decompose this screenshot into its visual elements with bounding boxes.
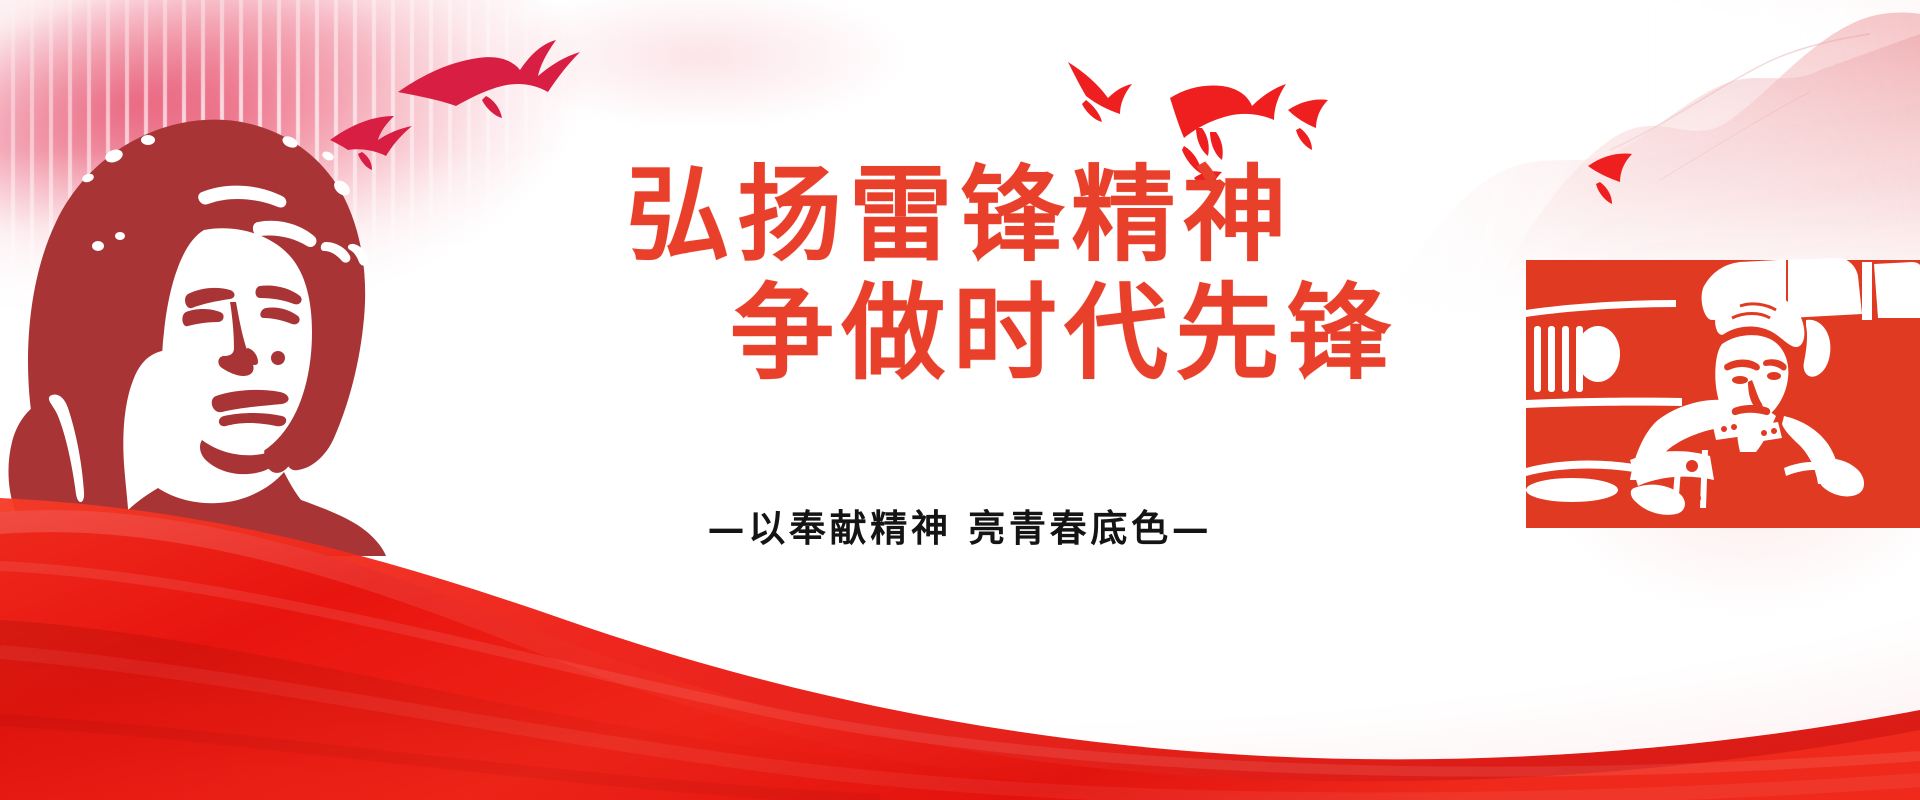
headline-line-2: 争做时代先锋 [0,281,1920,385]
red-silk-ribbon-wave [0,380,1920,800]
bird-crimson-small [330,116,412,170]
bird-red-4 [1288,99,1328,150]
subtitle-text: —以奉献精神 亮青春底色— [0,498,1920,552]
headline-line-1: 弘扬雷锋精神 [0,163,1920,267]
bird-crimson-large [398,40,580,118]
banner-root: 弘扬雷锋精神 争做时代先锋 —以奉献精神 亮青春底色— [0,0,1920,800]
bird-red-1 [1068,62,1132,122]
